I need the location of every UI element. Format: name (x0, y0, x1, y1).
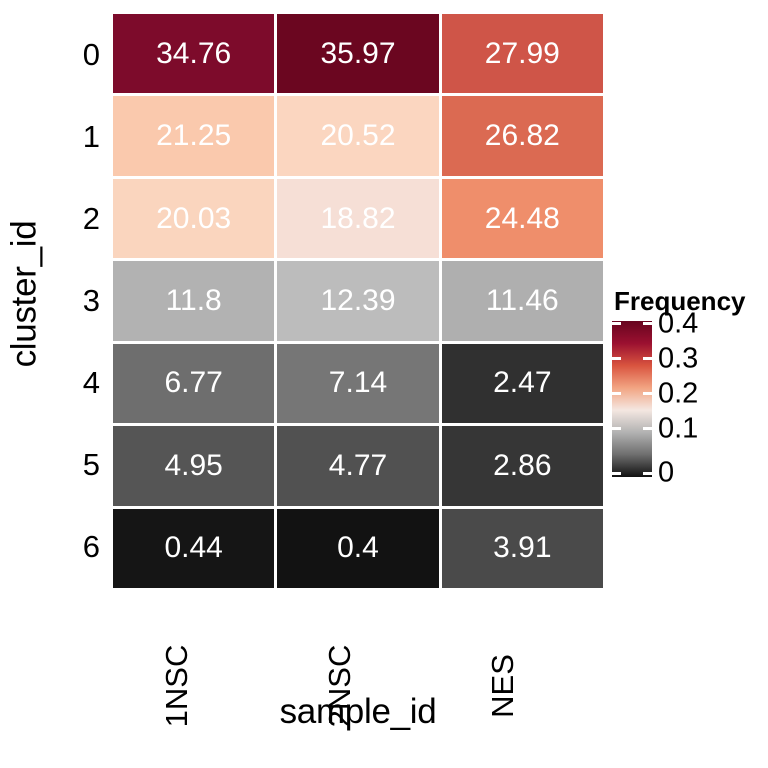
y-axis-title: cluster_id (0, 0, 48, 588)
colorbar-tick (612, 322, 621, 325)
heatmap-row: 4.95 4.77 2.86 (113, 426, 603, 505)
heatmap-row: 21.25 20.52 26.82 (113, 96, 603, 175)
heatmap-cell[interactable]: 20.03 (113, 179, 274, 258)
heatmap-cell[interactable]: 26.82 (442, 96, 603, 175)
heatmap-cell[interactable]: 4.95 (113, 426, 274, 505)
legend-tick-label: 0.4 (658, 308, 698, 341)
heatmap-cell[interactable]: 6.77 (113, 344, 274, 423)
heatmap-cell[interactable]: 18.82 (277, 179, 438, 258)
heatmap-cell[interactable]: 34.76 (113, 14, 274, 93)
heatmap-cell[interactable]: 24.48 (442, 179, 603, 258)
colorbar-tick (643, 322, 652, 325)
legend-tick-label: 0.1 (658, 413, 698, 446)
heatmap-cell[interactable]: 11.8 (113, 261, 274, 340)
x-axis-tick-labels: 1NSC 2NSC NES (113, 592, 603, 688)
heatmap-cell[interactable]: 4.77 (277, 426, 438, 505)
colorbar-wrap (612, 321, 652, 477)
y-tick-label: 3 (52, 260, 106, 342)
y-axis-title-text: cluster_id (4, 221, 44, 368)
x-axis-title: sample_id (113, 692, 603, 732)
heatmap-figure: cluster_id 0 1 2 3 4 5 6 34.76 35.97 27.… (0, 0, 768, 768)
heatmap-cell[interactable]: 7.14 (277, 344, 438, 423)
legend-tick-labels: 0.4 0.3 0.2 0.1 0 (652, 321, 752, 477)
colorbar-tick (643, 427, 652, 430)
y-tick-label: 5 (52, 424, 106, 506)
heatmap-cell[interactable]: 11.46 (442, 261, 603, 340)
y-tick-label: 6 (52, 506, 106, 588)
y-tick-label: 0 (52, 14, 106, 96)
y-axis-tick-labels: 0 1 2 3 4 5 6 (52, 14, 106, 588)
heatmap-row: 34.76 35.97 27.99 (113, 14, 603, 93)
heatmap-panel: 34.76 35.97 27.99 21.25 20.52 26.82 20.0… (113, 14, 603, 588)
y-tick-label: 2 (52, 178, 106, 260)
legend-tick-label: 0 (658, 457, 674, 490)
colorbar-gradient[interactable] (612, 321, 652, 477)
x-tick: 2NSC (276, 592, 439, 688)
heatmap-row: 0.44 0.4 3.91 (113, 509, 603, 588)
heatmap-cell[interactable]: 2.86 (442, 426, 603, 505)
heatmap-cell[interactable]: 0.4 (277, 509, 438, 588)
heatmap-cell[interactable]: 0.44 (113, 509, 274, 588)
legend-tick-label: 0.2 (658, 378, 698, 411)
heatmap-cell[interactable]: 12.39 (277, 261, 438, 340)
heatmap-row: 6.77 7.14 2.47 (113, 344, 603, 423)
y-tick-label: 4 (52, 342, 106, 424)
heatmap-cell[interactable]: 27.99 (442, 14, 603, 93)
y-tick-label: 1 (52, 96, 106, 178)
x-tick: 1NSC (113, 592, 276, 688)
heatmap-cell[interactable]: 3.91 (442, 509, 603, 588)
heatmap-row: 11.8 12.39 11.46 (113, 261, 603, 340)
x-tick: NES (440, 592, 603, 688)
heatmap-cell[interactable]: 35.97 (277, 14, 438, 93)
colorbar-tick (612, 472, 621, 475)
legend-tick-label: 0.3 (658, 343, 698, 376)
colorbar-tick (612, 427, 621, 430)
heatmap-cell[interactable]: 20.52 (277, 96, 438, 175)
legend-body: 0.4 0.3 0.2 0.1 0 (612, 321, 768, 477)
legend: Frequency 0.4 0.3 0.2 0.1 0 (612, 286, 768, 477)
colorbar-tick (643, 357, 652, 360)
colorbar-tick (643, 392, 652, 395)
heatmap-cell[interactable]: 2.47 (442, 344, 603, 423)
heatmap-cell[interactable]: 21.25 (113, 96, 274, 175)
heatmap-row: 20.03 18.82 24.48 (113, 179, 603, 258)
colorbar-tick (612, 392, 621, 395)
colorbar-tick (612, 357, 621, 360)
colorbar-tick (643, 472, 652, 475)
